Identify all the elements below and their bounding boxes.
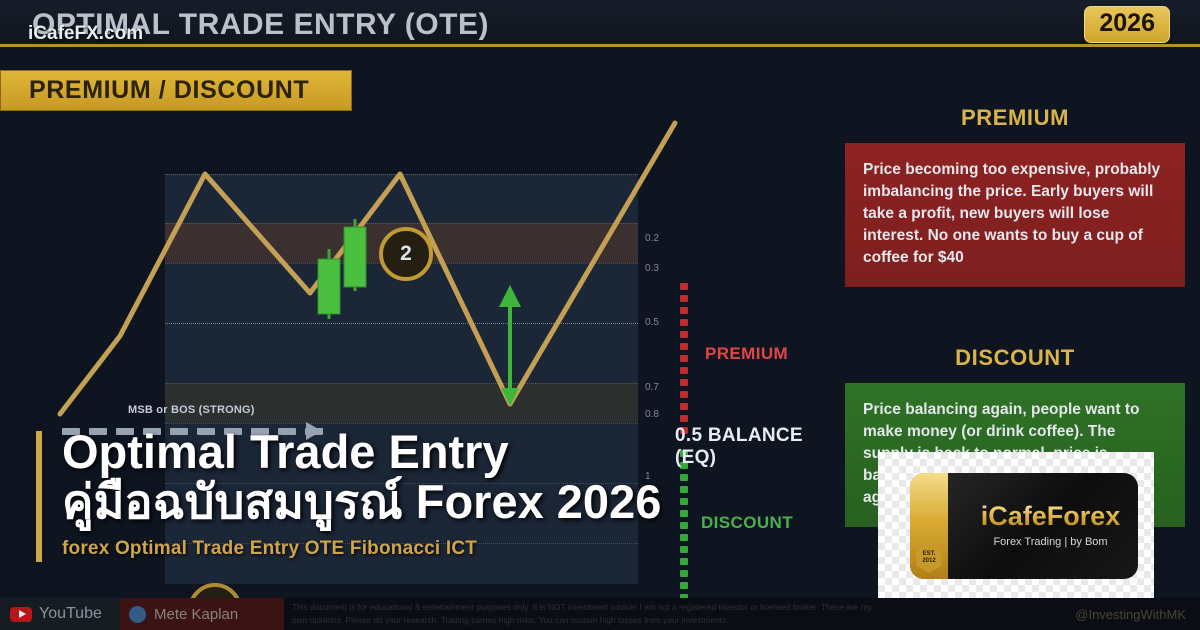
channel-chip[interactable]: Mete Kaplan xyxy=(120,598,284,630)
brand-logo-card: EST. 2012 iCafeForex Forex Trading | by … xyxy=(878,452,1154,598)
year-badge: 2026 xyxy=(1084,6,1170,43)
discount-panel-heading: DISCOUNT xyxy=(845,335,1185,383)
overlay-subtitle: forex Optimal Trade Entry OTE Fibonacci … xyxy=(62,538,796,560)
est-badge-line-2: 2012 xyxy=(922,558,935,565)
brand-name: iCafeForex xyxy=(968,501,1133,532)
section-banner: PREMIUM / DISCOUNT xyxy=(0,70,352,111)
youtube-icon xyxy=(10,607,32,622)
avatar xyxy=(129,606,146,623)
overlay-title-line-1: Optimal Trade Entry xyxy=(62,427,796,477)
section-banner-label: PREMIUM / DISCOUNT xyxy=(29,76,309,105)
social-handle: @InvestingWithMK xyxy=(1075,607,1186,622)
disclaimer-text: This document is for educational & enter… xyxy=(292,601,882,627)
brand-tagline: Forex Trading | by Bom xyxy=(968,536,1133,548)
youtube-chip[interactable]: YouTube xyxy=(0,598,120,630)
overlay-title-line-2: คู่มือฉบับสมบูรณ์ Forex 2026 xyxy=(62,477,796,527)
candle-1 xyxy=(318,249,340,319)
brand-logo-inner: EST. 2012 iCafeForex Forex Trading | by … xyxy=(910,473,1138,579)
msb-bos-label: MSB or BOS (STRONG) xyxy=(128,404,255,416)
premium-panel-heading: PREMIUM xyxy=(845,95,1185,143)
premium-panel-body: Price becoming too expensive, probably i… xyxy=(845,143,1185,287)
title-overlay: Optimal Trade Entry คู่มือฉบับสมบูรณ์ Fo… xyxy=(36,427,796,560)
premium-panel: PREMIUM Price becoming too expensive, pr… xyxy=(845,95,1185,287)
est-badge-line-1: EST. xyxy=(923,551,936,558)
youtube-label: YouTube xyxy=(39,605,102,623)
poster-canvas: OPTIMAL TRADE ENTRY (OTE) iCafeFX.com 20… xyxy=(0,0,1200,630)
premium-rail xyxy=(680,283,688,439)
step-marker-2-label: 2 xyxy=(400,242,412,266)
site-watermark: iCafeFX.com xyxy=(28,23,143,45)
step-marker-2: 2 xyxy=(379,227,433,281)
bottom-bar: YouTube Mete Kaplan This document is for… xyxy=(0,598,1200,630)
top-header-bar: OPTIMAL TRADE ENTRY (OTE) iCafeFX.com 20… xyxy=(0,0,1200,47)
channel-label: Mete Kaplan xyxy=(154,606,238,623)
premium-tag: PREMIUM xyxy=(705,344,788,364)
title-accent-bar xyxy=(36,431,42,562)
candle-2 xyxy=(344,219,366,291)
